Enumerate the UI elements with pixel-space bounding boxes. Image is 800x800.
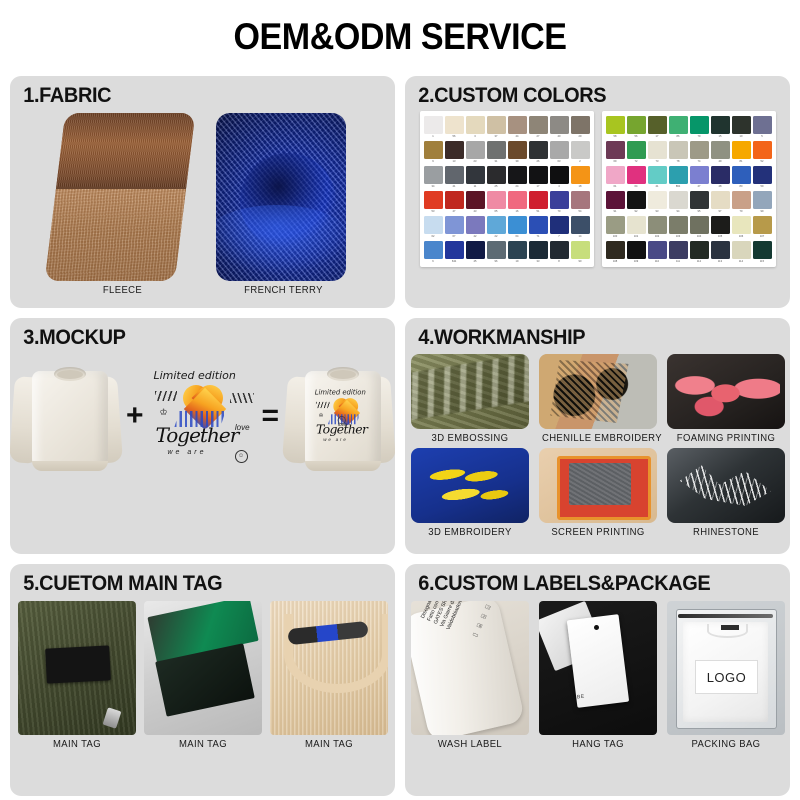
color-swatch-chip (732, 241, 751, 259)
color-swatch[interactable]: 49 (711, 141, 730, 164)
color-swatch-chip (711, 166, 730, 184)
color-swatch-code: 90 (571, 259, 590, 264)
color-swatch-code: 114 (732, 259, 751, 264)
color-swatch-code: 111 (669, 259, 688, 264)
color-swatch-code: 112 (690, 259, 709, 264)
color-swatch-chip (508, 166, 527, 184)
color-swatch-chip (529, 166, 548, 184)
printed-line-top: Limited edition (315, 388, 366, 396)
plus-sign: + (126, 401, 144, 431)
color-swatch[interactable]: 47 (690, 166, 709, 189)
main-tag-item-0[interactable]: MAIN TAG (18, 601, 136, 750)
labels-items: ⌷ ⌸ ⌹ ⌺ ⌻ Disegnato in Italia Fatto con … (405, 601, 790, 750)
color-swatch[interactable]: 25 (487, 166, 506, 189)
color-swatch-chip (424, 191, 443, 209)
color-swatch-code: 105 (711, 234, 730, 239)
color-swatch-code: 22 (487, 234, 506, 239)
color-swatch[interactable]: 3 (466, 116, 485, 139)
color-swatch[interactable]: 45 (466, 241, 485, 264)
color-swatch-chip (669, 116, 688, 134)
workmanship-item-screen-printing[interactable]: SCREEN PRINTING (539, 448, 657, 538)
artwork-graphic[interactable]: Limited edition ♔ Together we are love ☺ (147, 367, 257, 465)
color-swatch[interactable]: 111 (669, 241, 688, 264)
color-swatch-code: 74 (690, 159, 709, 164)
color-swatch-chip (424, 216, 443, 234)
color-swatch[interactable]: 67 (445, 216, 464, 239)
color-swatch[interactable]: 112 (690, 241, 709, 264)
color-swatch[interactable]: 41 (445, 166, 464, 189)
color-swatch-code: 42 (466, 234, 485, 239)
color-swatch[interactable]: 23 (466, 141, 485, 164)
color-swatch[interactable]: 39 (508, 141, 527, 164)
labels-item-hang-tag[interactable]: BE HANG TAG (539, 601, 657, 750)
color-swatch-chip (753, 166, 772, 184)
color-swatch-chip (711, 141, 730, 159)
color-swatch-code: 15 (711, 134, 730, 139)
color-swatch-code: 99 (753, 209, 772, 214)
color-swatch-code: 26 (529, 159, 548, 164)
color-swatch-chip (508, 216, 527, 234)
main-tag-item-1[interactable]: MAIN TAG (144, 601, 262, 750)
color-swatch[interactable]: 24 (508, 166, 527, 189)
color-swatch[interactable]: 114 (732, 241, 751, 264)
color-swatch[interactable]: 11 (466, 166, 485, 189)
color-swatch-chip (445, 116, 464, 134)
workmanship-caption-3: 3D EMBROIDERY (413, 527, 525, 538)
color-swatch-code: 64 (508, 234, 527, 239)
color-swatch-chip (690, 116, 709, 134)
color-swatch[interactable]: 102 (648, 216, 667, 239)
color-swatch-code: 40 (550, 134, 569, 139)
color-swatch[interactable]: 13 (445, 141, 464, 164)
workmanship-item-foaming-printing[interactable]: FOAMING PRINTING (667, 354, 785, 444)
color-swatch-chip (445, 191, 464, 209)
beige-neck-tape-image (270, 601, 388, 735)
color-swatch[interactable]: 70 (550, 191, 569, 214)
color-swatch[interactable]: 42 (466, 216, 485, 239)
screen-printing-image (539, 448, 657, 523)
fabric-item-french-terry[interactable]: FRENCH TERRY (216, 113, 351, 296)
fabric-fold-highlight (216, 205, 346, 275)
labels-item-wash-label[interactable]: ⌷ ⌸ ⌹ ⌺ ⌻ Disegnato in Italia Fatto con … (411, 601, 529, 750)
color-swatch-code: 7 (550, 234, 569, 239)
color-swatch-code: 23 (466, 159, 485, 164)
color-swatch-chip (690, 166, 709, 184)
color-swatch-code: 53 (424, 209, 443, 214)
main-tag-items: MAIN TAG MAIN TAG MAIN TAG (10, 601, 395, 750)
mockup-equation: + Limited edition ♔ Together we are love… (10, 357, 395, 475)
color-swatch-chip (606, 166, 625, 184)
color-swatch-chip (711, 116, 730, 134)
blank-sweatshirt-image[interactable] (10, 357, 122, 475)
color-swatch-chip (550, 141, 569, 159)
crown-icon: ♔ (159, 407, 167, 418)
color-swatch-chip (732, 216, 751, 234)
color-swatch-code: 10 (732, 134, 751, 139)
panel-main-tag-title: 5.CUETOM MAIN TAG (10, 564, 376, 595)
color-swatch[interactable]: 97 (711, 191, 730, 214)
color-swatch[interactable]: 86b (669, 166, 688, 189)
workmanship-caption-1: CHENILLE EMBROIDERY (541, 433, 653, 444)
color-swatch[interactable]: 8 (550, 241, 569, 264)
color-swatch-code: 1 (424, 134, 443, 139)
chenille-image (539, 354, 657, 429)
color-swatch[interactable]: 51 (529, 191, 548, 214)
color-swatch-code: 110 (648, 259, 667, 264)
labels-item-packing-bag[interactable]: LOGO PACKING BAG (667, 601, 785, 750)
color-swatch-chip (711, 191, 730, 209)
color-swatch-chip (487, 141, 506, 159)
color-swatch-chip (627, 241, 646, 259)
printed-artwork-overlay: Limited edition ♔ Together we are love ☺ (311, 387, 352, 425)
workmanship-item-3d-embossing[interactable]: 3D EMBOSSING (411, 354, 529, 444)
color-swatch[interactable]: 56 (627, 116, 646, 139)
color-swatch[interactable]: 5 (753, 116, 772, 139)
color-swatch[interactable]: 105 (711, 216, 730, 239)
smiley-icon: ☺ (235, 450, 248, 463)
main-tag-caption-0: MAIN TAG (20, 739, 132, 750)
color-swatch[interactable]: 95 (690, 191, 709, 214)
artwork-line-small: we are (167, 449, 206, 456)
color-swatch[interactable]: 47 (445, 191, 464, 214)
color-swatch[interactable]: 15 (711, 116, 730, 139)
color-swatch-chip (711, 216, 730, 234)
color-swatch-chip (732, 141, 751, 159)
panel-workmanship: 4.WORKMANSHIP 3D EMBOSSING CHENILLE EMBR… (405, 318, 790, 554)
color-swatch-code: 17 (529, 184, 548, 189)
color-swatch-code: 49 (711, 159, 730, 164)
color-swatch-chip (627, 116, 646, 134)
color-swatch[interactable]: 91 (606, 191, 625, 214)
color-cards: 1563374427402991323313926632344111252417… (405, 111, 790, 267)
color-swatch[interactable]: 64 (508, 216, 527, 239)
color-swatch-chip (487, 241, 506, 259)
color-swatch-chip (487, 116, 506, 134)
color-swatch-chip (445, 141, 464, 159)
color-swatch-chip (669, 216, 688, 234)
color-swatch[interactable]: 2 (571, 141, 590, 164)
color-swatch[interactable]: 16 (508, 191, 527, 214)
wash-label-image: ⌷ ⌸ ⌹ ⌺ ⌻ Disegnato in Italia Fatto con … (411, 601, 529, 735)
workmanship-caption-0: 3D EMBOSSING (413, 433, 525, 444)
color-swatch-chip (627, 191, 646, 209)
color-grid-right: 585617867915105697273787449815261644186b… (606, 116, 772, 264)
color-swatch[interactable]: 53 (424, 191, 443, 214)
color-swatch[interactable]: 74 (690, 141, 709, 164)
color-swatch[interactable]: 107 (753, 216, 772, 239)
color-swatch[interactable]: 79 (690, 116, 709, 139)
color-swatch[interactable]: 110 (648, 241, 667, 264)
color-swatch[interactable]: 62 (424, 216, 443, 239)
color-swatch-code: 102 (648, 234, 667, 239)
color-swatch[interactable]: 64b (445, 241, 464, 264)
color-swatch[interactable]: 52 (753, 141, 772, 164)
color-swatch-chip (508, 241, 527, 259)
color-swatch[interactable]: 80 (732, 166, 751, 189)
color-swatch-chip (550, 166, 569, 184)
color-swatch-chip (571, 166, 590, 184)
color-swatch-code: 108 (606, 259, 625, 264)
color-swatch[interactable]: 65 (487, 191, 506, 214)
color-swatch-code: 56 (627, 134, 646, 139)
color-swatch[interactable]: 99 (753, 191, 772, 214)
printed-shirt-collar (327, 367, 359, 381)
color-swatch[interactable]: 56 (445, 116, 464, 139)
color-swatch[interactable]: 22 (487, 216, 506, 239)
panel-workmanship-title: 4.WORKMANSHIP (405, 318, 771, 349)
printed-crown-icon: ♔ (319, 412, 324, 419)
color-swatch-chip (648, 216, 667, 234)
color-swatch-chip (732, 116, 751, 134)
color-swatch-chip (424, 116, 443, 134)
color-swatch-code: 62 (424, 234, 443, 239)
panel-labels-title: 6.CUSTOM LABELS&PACKAGE (405, 564, 771, 595)
color-swatch[interactable]: 41 (648, 166, 667, 189)
color-swatch[interactable]: 26 (529, 141, 548, 164)
color-swatch-chip (627, 216, 646, 234)
color-swatch-chip (690, 216, 709, 234)
color-swatch[interactable]: 70 (732, 191, 751, 214)
color-swatch-code: 33 (529, 259, 548, 264)
color-swatch-code: 115 (753, 259, 772, 264)
color-swatch-code: 44 (508, 134, 527, 139)
color-swatch-code: 4 (550, 184, 569, 189)
fabric-items: FLEECE FRENCH TERRY (10, 113, 395, 296)
color-swatch[interactable]: 37 (487, 116, 506, 139)
color-swatch-chip (445, 166, 464, 184)
color-swatch-code: 72 (627, 159, 646, 164)
color-swatch-code: 70 (550, 209, 569, 214)
shirt-body (32, 371, 108, 471)
speed-lines-left (155, 391, 177, 401)
color-swatch[interactable]: 1 (424, 116, 443, 139)
color-swatch[interactable]: 48 (711, 166, 730, 189)
color-swatch-code: 92 (627, 209, 646, 214)
color-swatch-chip (753, 241, 772, 259)
color-swatch[interactable]: 29 (571, 116, 590, 139)
color-swatch[interactable]: 34 (424, 166, 443, 189)
color-swatch-code: 48 (711, 184, 730, 189)
color-swatch-code: 78 (669, 159, 688, 164)
color-swatch[interactable]: 69 (606, 141, 625, 164)
color-swatch-code: 41 (648, 184, 667, 189)
embossing-image (411, 354, 529, 429)
color-card-right[interactable]: 585617867915105697273787449815261644186b… (602, 111, 776, 267)
color-card-left[interactable]: 1563374427402991323313926632344111252417… (420, 111, 594, 267)
color-swatch-code: 47 (445, 209, 464, 214)
color-swatch-chip (732, 166, 751, 184)
foaming-image (667, 354, 785, 429)
color-swatch[interactable]: 44 (508, 116, 527, 139)
color-swatch[interactable]: 104 (690, 216, 709, 239)
panel-mockup-title: 3.MOCKUP (10, 318, 376, 349)
color-swatch-chip (508, 191, 527, 209)
color-swatch[interactable]: 31 (487, 141, 506, 164)
color-swatch[interactable]: 106 (732, 216, 751, 239)
color-swatch-code: 27 (529, 134, 548, 139)
color-swatch[interactable]: 78 (669, 141, 688, 164)
packing-bag-image: LOGO (667, 601, 785, 735)
workmanship-caption-4: SCREEN PRINTING (541, 527, 653, 538)
color-swatch-chip (627, 166, 646, 184)
color-swatch-code: 103 (669, 234, 688, 239)
artwork-line-top: Limited edition (153, 369, 235, 382)
color-swatch[interactable]: 72 (627, 141, 646, 164)
color-swatch[interactable]: 7 (550, 216, 569, 239)
color-swatch-chip (648, 116, 667, 134)
color-swatch[interactable]: 113 (711, 241, 730, 264)
color-swatch-code: 107 (753, 234, 772, 239)
color-swatch[interactable]: 96 (487, 241, 506, 264)
color-swatch-code: 14 (571, 234, 590, 239)
color-swatch-code: 100 (606, 234, 625, 239)
equals-sign: = (262, 401, 280, 431)
artwork-love-text: love (235, 423, 250, 432)
color-swatch-code: 64b (445, 259, 464, 264)
shirt-collar (54, 367, 86, 381)
color-swatch-code: 11 (466, 184, 485, 189)
color-swatch-chip (550, 216, 569, 234)
color-swatch[interactable]: 54 (571, 191, 590, 214)
panel-custom-colors: 2.CUSTOM COLORS 156337442740299132331392… (405, 76, 790, 308)
color-swatch-code: 56 (445, 134, 464, 139)
color-swatch-code: 70 (732, 209, 751, 214)
color-swatch-chip (508, 116, 527, 134)
color-swatch-chip (753, 216, 772, 234)
workmanship-item-rhinestone[interactable]: RHINESTONE (667, 448, 785, 538)
color-swatch-code: 69 (606, 159, 625, 164)
bag-zipper (678, 614, 772, 618)
label-roll (411, 601, 526, 735)
color-swatch-chip (529, 191, 548, 209)
color-swatch-code: 45 (466, 259, 485, 264)
color-swatch-chip (571, 141, 590, 159)
embroidery-3d-image (411, 448, 529, 523)
color-swatch[interactable]: 115 (753, 241, 772, 264)
color-swatch-chip (669, 241, 688, 259)
color-swatch-code: 39 (508, 159, 527, 164)
printed-shirt-hem (305, 461, 381, 471)
fleece-top-band (44, 113, 195, 192)
color-swatch-chip (529, 141, 548, 159)
color-swatch-chip (571, 116, 590, 134)
workmanship-item-3d-embroidery[interactable]: 3D EMBROIDERY (411, 448, 529, 538)
color-swatch[interactable]: 40 (550, 116, 569, 139)
color-swatch[interactable]: 63 (550, 141, 569, 164)
color-swatch[interactable]: 86 (669, 116, 688, 139)
panel-fabric-title: 1.FABRIC (10, 76, 376, 107)
color-swatch-code: 101 (627, 234, 646, 239)
color-swatch-chip (466, 166, 485, 184)
color-swatch-chip (711, 241, 730, 259)
color-swatch-code: 18 (571, 184, 590, 189)
fabric-item-fleece[interactable]: FLEECE (55, 113, 190, 296)
color-swatch[interactable]: 18 (571, 166, 590, 189)
color-swatch[interactable]: 93 (648, 191, 667, 214)
main-tag-item-2[interactable]: MAIN TAG (270, 601, 388, 750)
color-swatch-chip (606, 141, 625, 159)
color-swatch[interactable]: 90 (571, 241, 590, 264)
color-swatch[interactable]: 109 (627, 241, 646, 264)
color-swatch[interactable]: 108 (606, 241, 625, 264)
color-swatch[interactable]: 61 (606, 166, 625, 189)
color-swatch-chip (606, 216, 625, 234)
color-swatch-chip (445, 216, 464, 234)
color-swatch[interactable]: 58 (606, 116, 625, 139)
color-swatch-code: 96 (487, 259, 506, 264)
color-swatch-chip (529, 241, 548, 259)
printed-sweatshirt-image[interactable]: Limited edition ♔ Together we are love ☺ (283, 357, 395, 475)
printed-speed-lines-left (316, 402, 330, 408)
color-swatch-chip (529, 116, 548, 134)
color-swatch-chip (424, 141, 443, 159)
color-swatch-code: 93 (648, 209, 667, 214)
color-swatch-code: 109 (627, 259, 646, 264)
color-swatch[interactable]: 19 (508, 241, 527, 264)
color-swatch-chip (753, 141, 772, 159)
main-tag-caption-2: MAIN TAG (272, 739, 384, 750)
color-swatch-code: 43 (466, 209, 485, 214)
color-swatch-code: 113 (711, 259, 730, 264)
color-swatch-chip (529, 216, 548, 234)
color-swatch[interactable]: 9 (424, 141, 443, 164)
color-swatch[interactable]: 81 (732, 141, 751, 164)
color-swatch[interactable]: 101 (627, 216, 646, 239)
color-swatch-chip (690, 141, 709, 159)
color-swatch-code: 106 (732, 234, 751, 239)
color-swatch-chip (669, 141, 688, 159)
color-swatch-chip (424, 241, 443, 259)
color-swatch-code: 80 (732, 184, 751, 189)
color-swatch[interactable]: 103 (669, 216, 688, 239)
color-swatch-chip (606, 191, 625, 209)
color-swatch[interactable]: 33 (529, 241, 548, 264)
color-swatch-code: 95 (690, 209, 709, 214)
color-swatch-chip (550, 116, 569, 134)
color-swatch[interactable]: 10 (732, 116, 751, 139)
color-swatch[interactable]: 4 (550, 166, 569, 189)
color-swatch[interactable]: 64 (627, 166, 646, 189)
color-swatch[interactable]: 71 (529, 216, 548, 239)
stacked-labels-image (144, 601, 262, 735)
color-swatch[interactable]: 94 (669, 191, 688, 214)
workmanship-item-chenille-embroidery[interactable]: CHENILLE EMBROIDERY (539, 354, 657, 444)
page-title: OEM&ODM SERVICE (32, 0, 768, 55)
color-swatch[interactable]: 6 (424, 241, 443, 264)
color-swatch[interactable]: 27 (529, 116, 548, 139)
color-swatch-chip (466, 116, 485, 134)
color-swatch-code: 91 (606, 209, 625, 214)
color-swatch[interactable]: 43 (466, 191, 485, 214)
color-swatch[interactable]: 59 (753, 166, 772, 189)
color-swatch-code: 9 (424, 159, 443, 164)
color-swatch-chip (571, 191, 590, 209)
color-swatch[interactable]: 92 (627, 191, 646, 214)
color-swatch-code: 31 (487, 159, 506, 164)
color-swatch-code: 3 (466, 134, 485, 139)
color-swatch-code: 16 (508, 209, 527, 214)
color-swatch-code: 63 (550, 159, 569, 164)
color-swatch[interactable]: 17 (648, 116, 667, 139)
color-swatch-code: 8 (550, 259, 569, 264)
color-swatch[interactable]: 17 (529, 166, 548, 189)
color-swatch-chip (648, 191, 667, 209)
color-swatch[interactable]: 73 (648, 141, 667, 164)
color-swatch[interactable]: 14 (571, 216, 590, 239)
printed-line-small: we are (323, 438, 347, 442)
color-swatch[interactable]: 100 (606, 216, 625, 239)
color-swatch-chip (606, 116, 625, 134)
